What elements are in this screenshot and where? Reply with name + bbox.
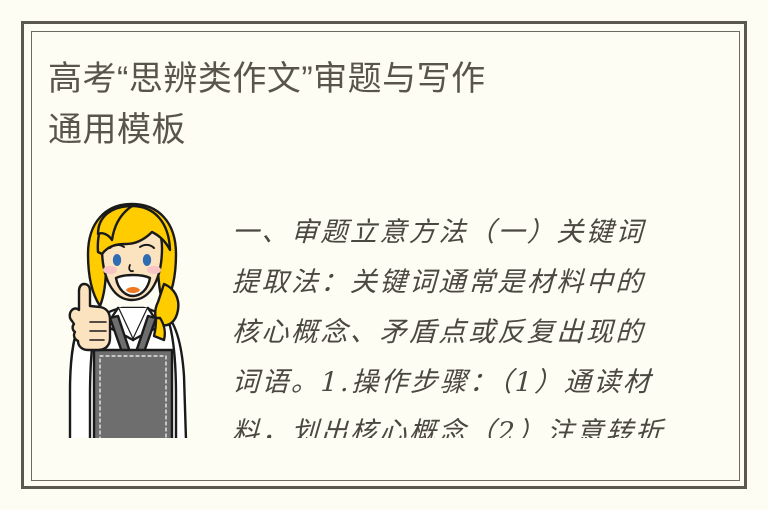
eye-right	[143, 254, 151, 266]
eye-left	[113, 254, 121, 266]
apron-shape	[94, 350, 172, 438]
content-area: 一、审题立意方法（一）关键词 提取法：关键词通常是材料中的 核心概念、矛盾点或反…	[48, 196, 720, 438]
illustration-cartoon-girl	[48, 196, 198, 438]
article-line-1: 一、审题立意方法（一）关键词	[232, 208, 720, 258]
article-line-4: 词语。1.操作步骤：（1）通读材	[232, 358, 720, 408]
blush-right	[147, 266, 161, 274]
article-line-2: 提取法：关键词通常是材料中的	[232, 258, 720, 308]
article-body: 一、审题立意方法（一）关键词 提取法：关键词通常是材料中的 核心概念、矛盾点或反…	[232, 196, 720, 438]
article-line-5: 料，划出核心概念（2）注意转折	[232, 408, 720, 438]
article-line-3: 核心概念、矛盾点或反复出现的	[232, 308, 720, 358]
blush-left	[103, 266, 117, 274]
poster-page: 高考“思辨类作文”审题与写作 通用模板	[0, 0, 768, 510]
page-title: 高考“思辨类作文”审题与写作 通用模板	[48, 54, 648, 156]
title-line-1: 高考“思辨类作文”审题与写作	[48, 54, 648, 105]
ponytail-tip-shape	[154, 318, 165, 340]
title-line-2: 通用模板	[48, 105, 648, 156]
